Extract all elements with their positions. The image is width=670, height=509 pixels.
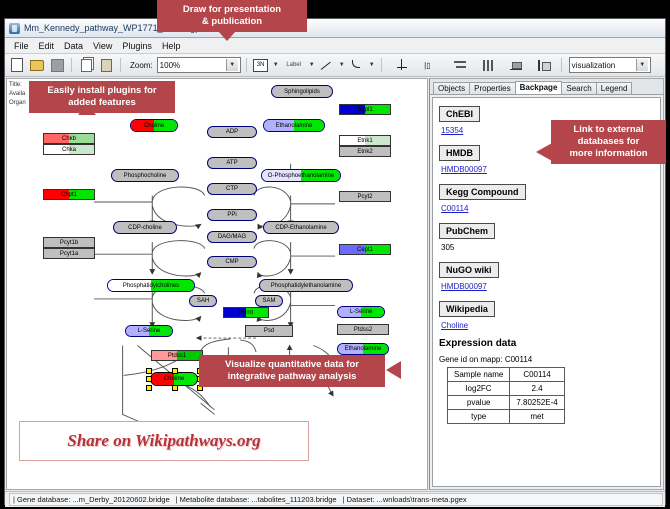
metabolite-node-adp[interactable]: ADP bbox=[207, 126, 257, 138]
metabolite-node-sphingolipids[interactable]: Sphingolipids bbox=[271, 85, 333, 98]
node-label: Etnk2 bbox=[357, 149, 372, 155]
node-label: L-Serine bbox=[138, 328, 161, 334]
node-label: Phosphocholine bbox=[124, 173, 167, 179]
menu-bar: File Edit Data View Plugins Help bbox=[5, 38, 665, 54]
distribute-cols-button[interactable] bbox=[479, 56, 497, 74]
metabolite-node-ethanolamine-top[interactable]: Ethanolamine bbox=[263, 119, 325, 132]
node-label: Choline bbox=[164, 376, 184, 382]
label-button[interactable]: Label bbox=[282, 56, 306, 74]
metabolite-node-o-phosphoethanolamine[interactable]: O-Phosphoethanolamine bbox=[261, 169, 341, 182]
metabolite-node-l-serine-right[interactable]: L-Serine bbox=[337, 306, 385, 318]
database-link-hmdb[interactable]: HMDB00097 bbox=[441, 165, 654, 174]
callout-draw-tail bbox=[218, 31, 236, 41]
order-icon bbox=[538, 60, 550, 71]
toolbar: Zoom: 100% ▼ 3N ▼ Label ▼ ▼ ▼ |▯ visuali… bbox=[5, 54, 665, 77]
zoom-combobox[interactable]: 100% ▼ bbox=[157, 57, 241, 73]
metabolite-node-ethanolamine-right[interactable]: Ethanolamine bbox=[337, 343, 389, 355]
distribute-columns-icon bbox=[482, 60, 494, 71]
label-organism: Organ bbox=[9, 99, 26, 108]
node-label: CTP bbox=[226, 186, 238, 192]
status-bar: | Gene database: ...m_Derby_20120602.bri… bbox=[5, 491, 665, 507]
zoom-label: Zoom: bbox=[130, 61, 153, 70]
node-label: Psd bbox=[264, 328, 274, 334]
align-left-button[interactable]: |▯ bbox=[421, 56, 441, 74]
table-row: Sample nameC00114 bbox=[448, 368, 565, 382]
node-label: CDP-choline bbox=[128, 225, 162, 231]
node-label: CMP bbox=[225, 259, 238, 265]
group-icon bbox=[510, 60, 522, 71]
toolbar-separator-4 bbox=[381, 58, 382, 72]
toolbar-separator-3 bbox=[246, 58, 247, 72]
new-button[interactable] bbox=[8, 56, 26, 74]
database-header-nugo-wiki: NuGO wiki bbox=[439, 262, 499, 278]
status-gene-database: | Gene database: ...m_Derby_20120602.bri… bbox=[13, 495, 170, 504]
table-cell-key: log2FC bbox=[448, 382, 510, 396]
table-cell-value: met bbox=[510, 410, 564, 424]
node-label: Ethanolamine bbox=[345, 346, 382, 352]
gene-node-ptdss2[interactable]: Ptdss2 bbox=[337, 324, 389, 335]
visualization-combobox[interactable]: visualization ▼ bbox=[569, 57, 651, 73]
arc-button[interactable] bbox=[348, 56, 366, 74]
gene-node-psd[interactable]: Psd bbox=[245, 325, 293, 337]
database-header-pubchem: PubChem bbox=[439, 223, 495, 239]
database-entry: PubChem305 bbox=[439, 219, 654, 252]
metabolite-node-choline-selected[interactable]: Choline bbox=[150, 372, 198, 386]
pathway-canvas[interactable]: Title: Availa Organ bbox=[6, 78, 428, 490]
node-label: CDP-Ethanolamine bbox=[275, 225, 326, 231]
chevron-down-icon: ▼ bbox=[226, 59, 238, 71]
menu-item-data[interactable]: Data bbox=[59, 41, 88, 51]
table-cell-key: Sample name bbox=[448, 368, 510, 382]
label-icon: Label bbox=[286, 62, 301, 68]
arc-icon bbox=[350, 59, 363, 71]
status-dataset: | Dataset: ...wnloads\trans-meta.pgex bbox=[343, 495, 467, 504]
node-label: Sgpl1 bbox=[357, 107, 372, 113]
gene-node-etnk2[interactable]: Etnk2 bbox=[339, 146, 391, 157]
resize-handle[interactable] bbox=[172, 385, 178, 391]
node-label: Chpt1 bbox=[61, 192, 77, 198]
line-dropdown[interactable]: ▼ bbox=[338, 58, 346, 72]
gene-node-sgpl1[interactable]: Sgpl1 bbox=[339, 104, 391, 115]
gene-node-pcyt1a[interactable]: Pcyt1a bbox=[43, 248, 95, 259]
node-label: O-Phosphoethanolamine bbox=[268, 173, 334, 179]
node-label: Chkb bbox=[62, 136, 76, 142]
node-label: ADP bbox=[226, 129, 238, 135]
metabolite-node-sah[interactable]: SAH bbox=[189, 295, 217, 307]
table-row: log2FC2.4 bbox=[448, 382, 565, 396]
database-link-wikipedia[interactable]: Choline bbox=[441, 321, 654, 330]
metabolite-node-phosphatidylcholines[interactable]: Phosphatidylcholines bbox=[107, 279, 195, 292]
toolbar-separator-2 bbox=[120, 58, 121, 72]
chevron-down-icon: ▼ bbox=[636, 59, 648, 71]
menu-item-edit[interactable]: Edit bbox=[34, 41, 60, 51]
node-label: Cept1 bbox=[357, 247, 373, 253]
datanode-dropdown[interactable]: ▼ bbox=[272, 58, 280, 72]
gene-node-chkb[interactable]: Chkb bbox=[43, 133, 95, 144]
callout-link: Link to externaldatabases formore inform… bbox=[551, 120, 666, 164]
database-header-kegg-compound: Kegg Compound bbox=[439, 184, 526, 200]
database-entry: Kegg CompoundC00114 bbox=[439, 180, 654, 213]
distribute-rows-button[interactable] bbox=[451, 56, 469, 74]
callout-plugins: Easily install plugins foradded features bbox=[29, 81, 175, 113]
resize-handle[interactable] bbox=[146, 368, 152, 374]
line-icon bbox=[320, 60, 333, 71]
node-label: Pcyt1b bbox=[60, 240, 78, 246]
database-link-nugo-wiki[interactable]: HMDB00097 bbox=[441, 282, 654, 291]
order-button[interactable] bbox=[535, 56, 553, 74]
label-dropdown[interactable]: ▼ bbox=[308, 58, 316, 72]
tab-search[interactable]: Search bbox=[561, 82, 596, 94]
metabolite-node-cdp-choline[interactable]: CDP-choline bbox=[113, 221, 177, 234]
node-label: Pemt bbox=[239, 310, 253, 316]
line-button[interactable] bbox=[318, 56, 336, 74]
arc-dropdown[interactable]: ▼ bbox=[368, 58, 376, 72]
node-label: DAG/MAG bbox=[218, 234, 246, 240]
share-text: Share on Wikipathways.org bbox=[67, 431, 260, 451]
database-header-wikipedia: Wikipedia bbox=[439, 301, 495, 317]
status-metabolite-database: | Metabolite database: ...tabolites_1112… bbox=[176, 495, 337, 504]
label-available: Availa bbox=[9, 90, 26, 99]
gene-node-pcyt1b[interactable]: Pcyt1b bbox=[43, 237, 95, 248]
align-left-icon: |▯ bbox=[424, 60, 437, 71]
new-document-icon bbox=[11, 58, 23, 72]
gene-node-chka[interactable]: Chka bbox=[43, 144, 95, 155]
node-label: ATP bbox=[226, 160, 237, 166]
title-bar: Mm_Kennedy_pathway_WP1771_45176.gpml bbox=[5, 19, 665, 38]
gene-node-chpt1[interactable]: Chpt1 bbox=[43, 189, 95, 200]
paste-button[interactable] bbox=[97, 56, 115, 74]
gene-node-cept1[interactable]: Cept1 bbox=[339, 244, 391, 255]
resize-handle[interactable] bbox=[146, 385, 152, 391]
table-cell-key: pvalue bbox=[448, 396, 510, 410]
database-entry: NuGO wikiHMDB00097 bbox=[439, 258, 654, 291]
node-label: Chka bbox=[62, 147, 76, 153]
database-header-hmdb: HMDB bbox=[439, 145, 480, 161]
node-label: SAM bbox=[262, 298, 275, 304]
gene-node-pcyt2[interactable]: Pcyt2 bbox=[339, 191, 391, 202]
toolbar-separator-5 bbox=[561, 58, 562, 72]
node-label: Pcyt2 bbox=[357, 194, 372, 200]
table-cell-value: 2.4 bbox=[510, 382, 564, 396]
group-button[interactable] bbox=[507, 56, 525, 74]
app-icon bbox=[9, 23, 20, 34]
resize-handle[interactable] bbox=[146, 376, 152, 382]
metabolite-node-atp[interactable]: ATP bbox=[207, 157, 257, 169]
menu-item-plugins[interactable]: Plugins bbox=[117, 41, 157, 51]
callout-share: Share on Wikipathways.org bbox=[19, 421, 309, 461]
metabolite-node-ppi[interactable]: PPi bbox=[207, 209, 257, 221]
status-text-wrap: | Gene database: ...m_Derby_20120602.bri… bbox=[9, 493, 663, 506]
paste-icon bbox=[101, 59, 112, 72]
callout-link-tail bbox=[536, 143, 552, 161]
table-cell-value: C00114 bbox=[510, 368, 564, 382]
anchor-icon bbox=[396, 59, 408, 71]
tab-objects[interactable]: Objects bbox=[433, 82, 470, 94]
metabolite-node-sam[interactable]: SAM bbox=[255, 295, 283, 307]
save-disk-icon bbox=[51, 59, 64, 72]
database-entry: WikipediaCholine bbox=[439, 297, 654, 330]
save-button[interactable] bbox=[48, 56, 66, 74]
visualization-value: visualization bbox=[572, 61, 636, 70]
tab-properties[interactable]: Properties bbox=[469, 82, 515, 94]
gene-node-pemt[interactable]: Pemt bbox=[223, 307, 269, 318]
node-label: Phosphatidylcholines bbox=[123, 283, 179, 289]
database-value-pubchem: 305 bbox=[441, 243, 654, 252]
metabolite-node-cmp[interactable]: CMP bbox=[207, 256, 257, 268]
resize-handle[interactable] bbox=[172, 368, 178, 374]
zoom-value: 100% bbox=[160, 61, 226, 70]
metabolite-node-phosphocholine[interactable]: Phosphocholine bbox=[111, 169, 179, 182]
metabolite-node-dagmag[interactable]: DAG/MAG bbox=[207, 231, 257, 243]
node-label: Pcyt1a bbox=[60, 251, 78, 257]
datanode-box-icon: 3N bbox=[253, 59, 268, 72]
database-header-chebi: ChEBI bbox=[439, 106, 480, 122]
metabolite-node-choline-top[interactable]: Choline bbox=[130, 119, 178, 132]
tab-legend[interactable]: Legend bbox=[596, 82, 633, 94]
open-button[interactable] bbox=[28, 56, 46, 74]
table-row: typemet bbox=[448, 410, 565, 424]
side-panel-tabs: Objects Properties Backpage Search Legen… bbox=[430, 79, 663, 95]
node-label: Etnk1 bbox=[357, 138, 372, 144]
copy-button[interactable] bbox=[77, 56, 95, 74]
metabolite-node-ctp[interactable]: CTP bbox=[207, 183, 257, 195]
menu-item-file[interactable]: File bbox=[9, 41, 34, 51]
node-label: Ethanolamine bbox=[276, 123, 313, 129]
tab-backpage[interactable]: Backpage bbox=[515, 81, 563, 94]
label-title: Title: bbox=[9, 81, 26, 90]
node-label: L-Serine bbox=[350, 309, 373, 315]
gene-node-etnk1[interactable]: Etnk1 bbox=[339, 135, 391, 146]
callout-visualize-tail bbox=[386, 361, 401, 379]
expression-heading: Expression data bbox=[439, 338, 654, 349]
table-cell-key: type bbox=[448, 410, 510, 424]
datanode-button[interactable]: 3N bbox=[252, 56, 270, 74]
node-label: Choline bbox=[144, 123, 164, 129]
node-label: Sphingolipids bbox=[284, 89, 320, 95]
open-folder-icon bbox=[30, 60, 44, 71]
expression-table: Sample nameC00114log2FC2.4pvalue7.80252E… bbox=[447, 367, 565, 424]
node-label: PPi bbox=[227, 212, 236, 218]
metabolite-node-l-serine-left[interactable]: L-Serine bbox=[125, 325, 173, 337]
database-link-kegg-compound[interactable]: C00114 bbox=[441, 204, 654, 213]
anchor-button[interactable] bbox=[393, 56, 411, 74]
node-label: SAH bbox=[197, 298, 209, 304]
distribute-rows-icon bbox=[454, 60, 466, 71]
gene-id-line: Gene id on mapp: C00114 bbox=[439, 355, 654, 364]
toolbar-separator-1 bbox=[71, 58, 72, 72]
metabolite-node-phosphatidylethanolamine[interactable]: Phosphatidylethanolamine bbox=[259, 279, 353, 292]
node-label: Ptdss1 bbox=[168, 353, 186, 359]
menu-item-view[interactable]: View bbox=[88, 41, 117, 51]
menu-item-help[interactable]: Help bbox=[157, 41, 186, 51]
callout-visualize: Visualize quantitative data forintegrati… bbox=[199, 355, 385, 387]
node-label: Phosphatidylethanolamine bbox=[271, 283, 341, 289]
canvas-side-labels: Title: Availa Organ bbox=[9, 81, 26, 108]
gene-node-ptdss1[interactable]: Ptdss1 bbox=[151, 350, 203, 361]
copy-icon bbox=[81, 59, 92, 72]
metabolite-node-cdp-ethanolamine[interactable]: CDP-Ethanolamine bbox=[263, 221, 339, 234]
callout-draw: Draw for presentation& publication bbox=[157, 0, 307, 32]
node-label: Ptdss2 bbox=[354, 327, 372, 333]
pathvisio-window: Mm_Kennedy_pathway_WP1771_45176.gpml Fil… bbox=[4, 18, 666, 505]
table-cell-value: 7.80252E-4 bbox=[510, 396, 564, 410]
table-row: pvalue7.80252E-4 bbox=[448, 396, 565, 410]
